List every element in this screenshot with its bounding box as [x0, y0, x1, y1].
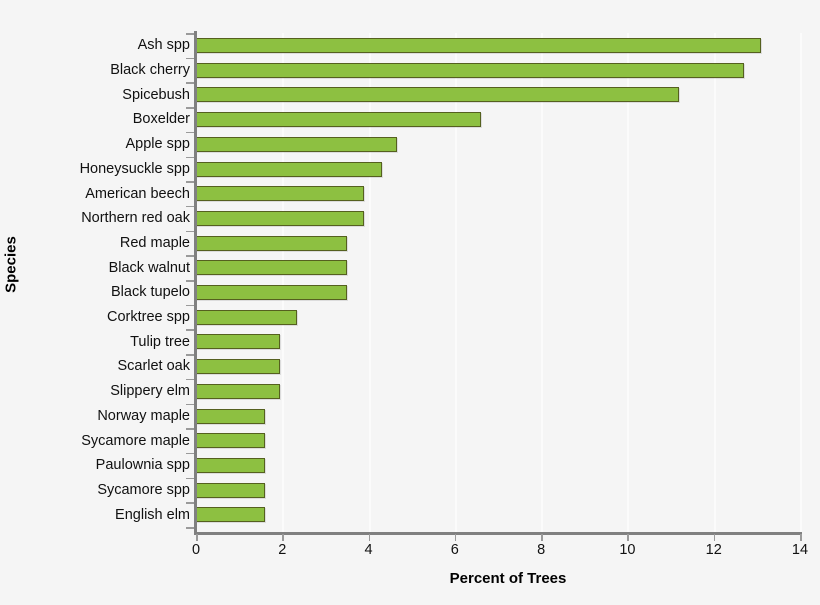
- bar: [196, 63, 744, 78]
- x-axis-title: Percent of Trees: [0, 570, 820, 587]
- bar: [196, 137, 397, 152]
- y-axis-tick-label: Black cherry: [0, 63, 190, 78]
- bar-row: [196, 58, 800, 83]
- y-axis-tick: [186, 231, 194, 233]
- y-axis-tick: [186, 280, 194, 282]
- y-axis-tick: [186, 453, 194, 455]
- y-axis-line: [194, 31, 197, 535]
- y-axis-tick: [186, 132, 194, 134]
- y-axis-tick-label: Northern red oak: [0, 211, 190, 226]
- x-axis-tick: [196, 534, 198, 541]
- y-axis-tick-label: Spicebush: [0, 88, 190, 103]
- bar-row: [196, 255, 800, 280]
- y-axis-tick-label: Boxelder: [0, 112, 190, 127]
- bar-row: [196, 231, 800, 256]
- bar: [196, 483, 265, 498]
- x-axis-tick-label: 0: [166, 543, 226, 558]
- x-axis-tick: [541, 534, 543, 541]
- bar-row: [196, 157, 800, 182]
- y-axis-tick: [186, 157, 194, 159]
- bar: [196, 334, 280, 349]
- y-axis-tick: [186, 478, 194, 480]
- y-axis-tick: [186, 354, 194, 356]
- x-axis-tick: [800, 534, 802, 541]
- y-axis-tick-label: Tulip tree: [0, 335, 190, 350]
- gridline: [800, 33, 802, 533]
- bar-row: [196, 33, 800, 58]
- bar: [196, 507, 265, 522]
- plot-area: [196, 33, 800, 533]
- bar-chart: Ash sppBlack cherrySpicebushBoxelderAppl…: [0, 0, 820, 605]
- y-axis-tick: [186, 255, 194, 257]
- y-axis-tick-label: Black tupelo: [0, 285, 190, 300]
- bar-row: [196, 404, 800, 429]
- bar: [196, 87, 679, 102]
- y-axis-tick: [186, 329, 194, 331]
- y-axis-tick: [186, 404, 194, 406]
- x-axis-tick-label: 10: [597, 543, 657, 558]
- y-axis-tick-label: Ash spp: [0, 38, 190, 53]
- y-axis-tick: [186, 33, 194, 35]
- x-axis-tick-label: 12: [684, 543, 744, 558]
- y-axis-tick-label: Norway maple: [0, 409, 190, 424]
- bar: [196, 433, 265, 448]
- bar-row: [196, 329, 800, 354]
- y-axis-title: Species: [3, 215, 20, 315]
- x-axis-tick: [627, 534, 629, 541]
- bar-row: [196, 354, 800, 379]
- y-axis-tick-label: Black walnut: [0, 261, 190, 276]
- x-axis-tick-label: 2: [252, 543, 312, 558]
- y-axis-tick-label: Scarlet oak: [0, 359, 190, 374]
- x-axis-line: [194, 532, 802, 535]
- bar-row: [196, 206, 800, 231]
- y-axis-tick: [186, 305, 194, 307]
- x-axis-tick-label: 14: [770, 543, 820, 558]
- y-axis-tick: [186, 206, 194, 208]
- y-axis-tick-label: English elm: [0, 508, 190, 523]
- bar-row: [196, 82, 800, 107]
- bar-row: [196, 181, 800, 206]
- bar-row: [196, 107, 800, 132]
- bar-row: [196, 379, 800, 404]
- bar: [196, 112, 481, 127]
- y-axis-tick-label: Corktree spp: [0, 310, 190, 325]
- bar-row: [196, 453, 800, 478]
- x-axis-tick-label: 4: [339, 543, 399, 558]
- x-axis-tick: [455, 534, 457, 541]
- bar-row: [196, 280, 800, 305]
- bar: [196, 310, 297, 325]
- x-axis-tick: [714, 534, 716, 541]
- y-axis-tick-label: American beech: [0, 187, 190, 202]
- bar: [196, 285, 347, 300]
- bar: [196, 409, 265, 424]
- y-axis-tick: [186, 379, 194, 381]
- bar: [196, 211, 364, 226]
- y-axis-tick-label: Sycamore spp: [0, 483, 190, 498]
- y-axis-tick-label: Red maple: [0, 236, 190, 251]
- y-axis-tick-label: Apple spp: [0, 137, 190, 152]
- y-axis-tick: [186, 527, 194, 529]
- bar: [196, 359, 280, 374]
- bar: [196, 186, 364, 201]
- bar: [196, 384, 280, 399]
- bar: [196, 458, 265, 473]
- x-axis-tick-label: 6: [425, 543, 485, 558]
- bar-row: [196, 428, 800, 453]
- y-axis-tick-label: Slippery elm: [0, 384, 190, 399]
- bar: [196, 236, 347, 251]
- y-axis-tick: [186, 58, 194, 60]
- bar-row: [196, 478, 800, 503]
- y-axis-tick: [186, 502, 194, 504]
- bar-row: [196, 502, 800, 527]
- x-axis-tick-label: 8: [511, 543, 571, 558]
- x-axis-tick: [369, 534, 371, 541]
- bar-row: [196, 132, 800, 157]
- y-axis-tick: [186, 181, 194, 183]
- y-axis-tick: [186, 107, 194, 109]
- x-axis-tick: [282, 534, 284, 541]
- y-axis-tick: [186, 82, 194, 84]
- y-axis-tick: [186, 428, 194, 430]
- bar: [196, 260, 347, 275]
- bar: [196, 162, 382, 177]
- y-axis-tick-label: Paulownia spp: [0, 458, 190, 473]
- bar: [196, 38, 761, 53]
- y-axis-tick-label: Sycamore maple: [0, 434, 190, 449]
- bar-row: [196, 305, 800, 330]
- y-axis-tick-label: Honeysuckle spp: [0, 162, 190, 177]
